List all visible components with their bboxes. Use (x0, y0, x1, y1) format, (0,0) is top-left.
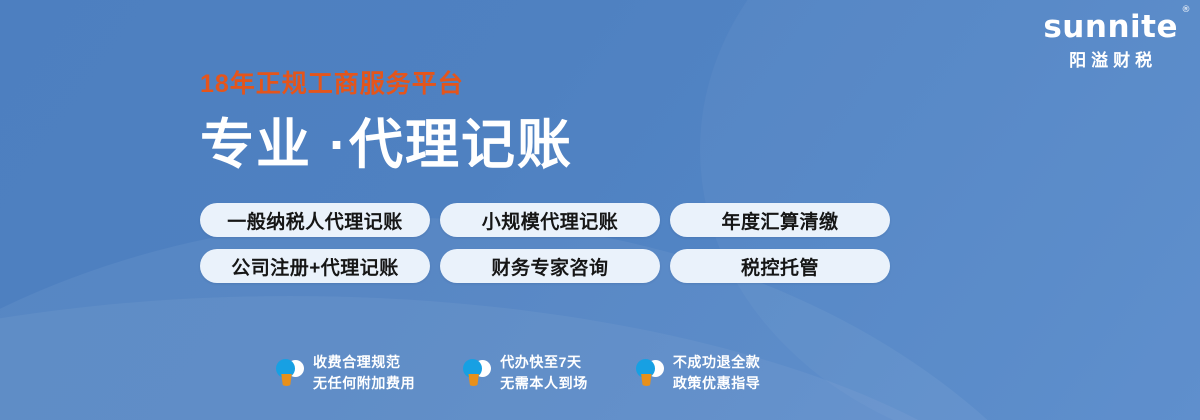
feature-strip: 收费合理规范 无任何附加费用 代办快至7天 无需本人到场 不成功退全款 (276, 352, 760, 394)
brand-logo[interactable]: sunnite® 阳溢财税 (1043, 12, 1178, 69)
feature-line-1: 不成功退全款 (673, 354, 761, 370)
promo-banner: sunnite® 阳溢财税 18年正规工商服务平台 专业 ·代理记账 一般纳税人… (0, 0, 1200, 420)
base-shape (467, 374, 480, 386)
headline-eyebrow: 18年正规工商服务平台 (200, 72, 573, 97)
feature-line-1: 收费合理规范 (313, 354, 401, 370)
feature-text: 代办快至7天 无需本人到场 (500, 352, 588, 394)
base-shape (280, 374, 293, 386)
feature-text: 收费合理规范 无任何附加费用 (313, 352, 415, 394)
feature-line-2: 无需本人到场 (500, 375, 588, 391)
feature-line-2: 无任何附加费用 (313, 375, 415, 391)
headline-block: 18年正规工商服务平台 专业 ·代理记账 (200, 72, 573, 174)
feature-item: 代办快至7天 无需本人到场 (463, 352, 588, 394)
registered-trademark-icon: ® (1182, 6, 1192, 15)
base-shape (640, 374, 653, 386)
half-moon-badge-icon (636, 358, 662, 388)
feature-line-2: 政策优惠指导 (673, 375, 761, 391)
service-pill[interactable]: 公司注册+代理记账 (200, 249, 430, 283)
half-moon-badge-icon (276, 358, 302, 388)
feature-item: 收费合理规范 无任何附加费用 (276, 352, 415, 394)
feature-line-1: 代办快至7天 (500, 354, 581, 370)
service-pill[interactable]: 小规模代理记账 (440, 203, 660, 237)
half-moon-badge-icon (463, 358, 489, 388)
feature-text: 不成功退全款 政策优惠指导 (673, 352, 761, 394)
service-pill[interactable]: 一般纳税人代理记账 (200, 203, 430, 237)
service-pill[interactable]: 年度汇算清缴 (670, 203, 890, 237)
service-pill[interactable]: 财务专家咨询 (440, 249, 660, 283)
service-pill-grid: 一般纳税人代理记账 小规模代理记账 年度汇算清缴 公司注册+代理记账 财务专家咨… (200, 203, 890, 283)
brand-name-cn: 阳溢财税 (1043, 52, 1178, 69)
feature-item: 不成功退全款 政策优惠指导 (636, 352, 761, 394)
service-pill[interactable]: 税控托管 (670, 249, 890, 283)
page-title: 专业 ·代理记账 (200, 117, 573, 174)
brand-wordmark: sunnite® (1043, 12, 1178, 43)
